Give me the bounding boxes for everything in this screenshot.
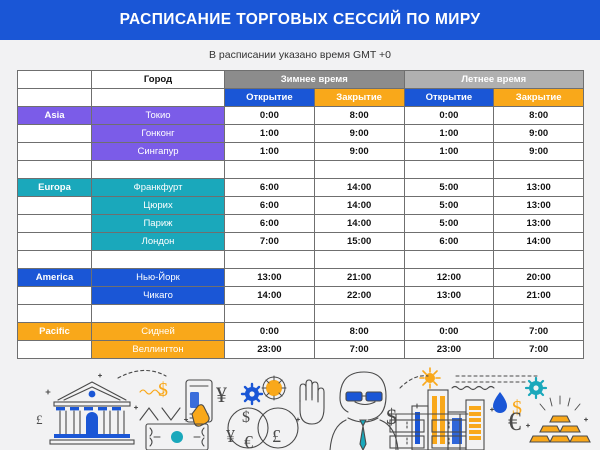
svg-text:€: €: [508, 407, 521, 436]
winter-close-cell: 14:00: [314, 215, 404, 233]
header-summer-close: Закрытие: [494, 89, 584, 107]
svg-text:£: £: [36, 412, 43, 427]
separator-cell: [314, 251, 404, 269]
separator-cell: [225, 161, 315, 179]
gear-icon-3: [526, 378, 546, 398]
separator-cell: [225, 251, 315, 269]
summer-close-cell: 13:00: [494, 197, 584, 215]
page-title: РАСПИСАНИЕ ТОРГОВЫХ СЕССИЙ ПО МИРУ: [120, 11, 481, 29]
summer-close-cell: 7:00: [494, 341, 584, 359]
separator-cell: [18, 251, 92, 269]
city-cell: Цюрих: [92, 197, 225, 215]
table-row: AmericaНью-Йорк13:0021:0012:0020:00: [18, 269, 584, 287]
region-cell-empty: [18, 341, 92, 359]
table-row: Цюрих6:0014:005:0013:00: [18, 197, 584, 215]
summer-open-cell: 1:00: [404, 143, 494, 161]
table-head: Город Зимнее время Летнее время Открытие…: [18, 71, 584, 107]
winter-open-cell: 0:00: [225, 107, 315, 125]
header-city: Город: [92, 71, 225, 89]
table-row: Гонконг1:009:001:009:00: [18, 125, 584, 143]
group-separator-row: [18, 251, 584, 269]
separator-cell: [92, 251, 225, 269]
region-cell-europa: Europa: [18, 179, 92, 197]
separator-cell: [18, 305, 92, 323]
summer-close-cell: 21:00: [494, 287, 584, 305]
winter-close-cell: 15:00: [314, 233, 404, 251]
table-row: Веллингтон23:007:0023:007:00: [18, 341, 584, 359]
trading-sessions-table: Город Зимнее время Летнее время Открытие…: [17, 70, 584, 359]
summer-close-cell: 14:00: [494, 233, 584, 251]
separator-cell: [92, 305, 225, 323]
separator-cell: [404, 305, 494, 323]
summer-open-cell: 0:00: [404, 323, 494, 341]
winter-close-cell: 8:00: [314, 107, 404, 125]
winter-close-cell: 21:00: [314, 269, 404, 287]
summer-open-cell: 23:00: [404, 341, 494, 359]
region-cell-empty: [18, 125, 92, 143]
table-body: AsiaТокио0:008:000:008:00Гонконг1:009:00…: [18, 107, 584, 359]
region-cell-asia: Asia: [18, 107, 92, 125]
finance-icons-strip: £ $: [0, 362, 600, 450]
table-row: AsiaТокио0:008:000:008:00: [18, 107, 584, 125]
svg-text:¥: ¥: [216, 382, 227, 407]
winter-close-cell: 7:00: [314, 341, 404, 359]
winter-open-cell: 0:00: [225, 323, 315, 341]
region-cell-america: America: [18, 269, 92, 287]
summer-open-cell: 12:00: [404, 269, 494, 287]
winter-open-cell: 14:00: [225, 287, 315, 305]
region-cell-empty: [18, 143, 92, 161]
header-summer-open: Открытие: [404, 89, 494, 107]
schedule-infographic: РАСПИСАНИЕ ТОРГОВЫХ СЕССИЙ ПО МИРУ В рас…: [0, 0, 600, 450]
header-winter-open: Открытие: [225, 89, 315, 107]
schedule-table-wrap: Город Зимнее время Летнее время Открытие…: [0, 70, 600, 359]
summer-open-cell: 6:00: [404, 233, 494, 251]
header-row-top: Город Зимнее время Летнее время: [18, 71, 584, 89]
city-cell: Чикаго: [92, 287, 225, 305]
group-separator-row: [18, 161, 584, 179]
summer-close-cell: 20:00: [494, 269, 584, 287]
winter-open-cell: 6:00: [225, 179, 315, 197]
separator-cell: [494, 305, 584, 323]
summer-close-cell: 9:00: [494, 125, 584, 143]
separator-cell: [225, 305, 315, 323]
winter-close-cell: 9:00: [314, 143, 404, 161]
timezone-note: В расписании указано время GMT +0: [209, 49, 391, 61]
svg-text:$: $: [158, 379, 168, 401]
table-row: PacificСидней0:008:000:007:00: [18, 323, 584, 341]
separator-cell: [314, 305, 404, 323]
region-cell-empty: [18, 197, 92, 215]
city-cell: Лондон: [92, 233, 225, 251]
sun-icon: [420, 368, 440, 388]
winter-close-cell: 14:00: [314, 197, 404, 215]
dollar-sign-icon: $: [158, 379, 168, 401]
summer-close-cell: 8:00: [494, 107, 584, 125]
city-cell: Веллингтон: [92, 341, 225, 359]
city-cell: Париж: [92, 215, 225, 233]
summer-close-cell: 7:00: [494, 323, 584, 341]
winter-close-cell: 8:00: [314, 323, 404, 341]
header-cell-empty: [18, 71, 92, 89]
separator-cell: [92, 161, 225, 179]
summer-close-cell: 9:00: [494, 143, 584, 161]
separator-cell: [404, 161, 494, 179]
table-row: Чикаго14:0022:0013:0021:00: [18, 287, 584, 305]
gear-icon: [242, 384, 262, 404]
region-cell-empty: [18, 233, 92, 251]
region-cell-empty: [18, 215, 92, 233]
table-row: EuropaФранкфурт6:0014:005:0013:00: [18, 179, 584, 197]
svg-text:$: $: [242, 409, 250, 426]
separator-cell: [18, 161, 92, 179]
winter-open-cell: 1:00: [225, 143, 315, 161]
winter-open-cell: 1:00: [225, 125, 315, 143]
table-row: Сингапур1:009:001:009:00: [18, 143, 584, 161]
summer-open-cell: 0:00: [404, 107, 494, 125]
svg-text:$: $: [386, 404, 397, 429]
winter-close-cell: 14:00: [314, 179, 404, 197]
summer-open-cell: 5:00: [404, 197, 494, 215]
group-separator-row: [18, 305, 584, 323]
winter-open-cell: 7:00: [225, 233, 315, 251]
table-row: Лондон7:0015:006:0014:00: [18, 233, 584, 251]
separator-cell: [404, 251, 494, 269]
header-summer-time: Летнее время: [404, 71, 584, 89]
summer-close-cell: 13:00: [494, 215, 584, 233]
winter-close-cell: 22:00: [314, 287, 404, 305]
summer-open-cell: 5:00: [404, 215, 494, 233]
region-cell-empty: [18, 287, 92, 305]
region-cell-pacific: Pacific: [18, 323, 92, 341]
subtitle-area: В расписании указано время GMT +0: [0, 40, 600, 70]
header-winter-close: Закрытие: [314, 89, 404, 107]
winter-close-cell: 9:00: [314, 125, 404, 143]
city-cell: Франкфурт: [92, 179, 225, 197]
city-cell: Токио: [92, 107, 225, 125]
winter-open-cell: 6:00: [225, 215, 315, 233]
city-cell: Сидней: [92, 323, 225, 341]
summer-close-cell: 13:00: [494, 179, 584, 197]
winter-open-cell: 13:00: [225, 269, 315, 287]
summer-open-cell: 1:00: [404, 125, 494, 143]
page-header-bar: РАСПИСАНИЕ ТОРГОВЫХ СЕССИЙ ПО МИРУ: [0, 0, 600, 40]
summer-open-cell: 5:00: [404, 179, 494, 197]
table-row: Париж6:0014:005:0013:00: [18, 215, 584, 233]
yen-sign-icon: ¥: [216, 382, 227, 407]
winter-open-cell: 23:00: [225, 341, 315, 359]
svg-text:€: €: [244, 432, 253, 450]
dollar-sign-icon-2: $: [386, 404, 397, 429]
summer-open-cell: 13:00: [404, 287, 494, 305]
svg-text:£: £: [272, 426, 281, 446]
header-winter-time: Зимнее время: [225, 71, 405, 89]
svg-text:¥: ¥: [226, 426, 235, 446]
city-cell: Гонконг: [92, 125, 225, 143]
separator-cell: [314, 161, 404, 179]
header-cell-empty-2: [18, 89, 92, 107]
euro-sign-icon: €: [508, 407, 521, 436]
separator-cell: [494, 251, 584, 269]
city-cell: Сингапур: [92, 143, 225, 161]
separator-cell: [494, 161, 584, 179]
header-cell-empty-3: [92, 89, 225, 107]
winter-open-cell: 6:00: [225, 197, 315, 215]
header-row-sub: Открытие Закрытие Открытие Закрытие: [18, 89, 584, 107]
city-cell: Нью-Йорк: [92, 269, 225, 287]
